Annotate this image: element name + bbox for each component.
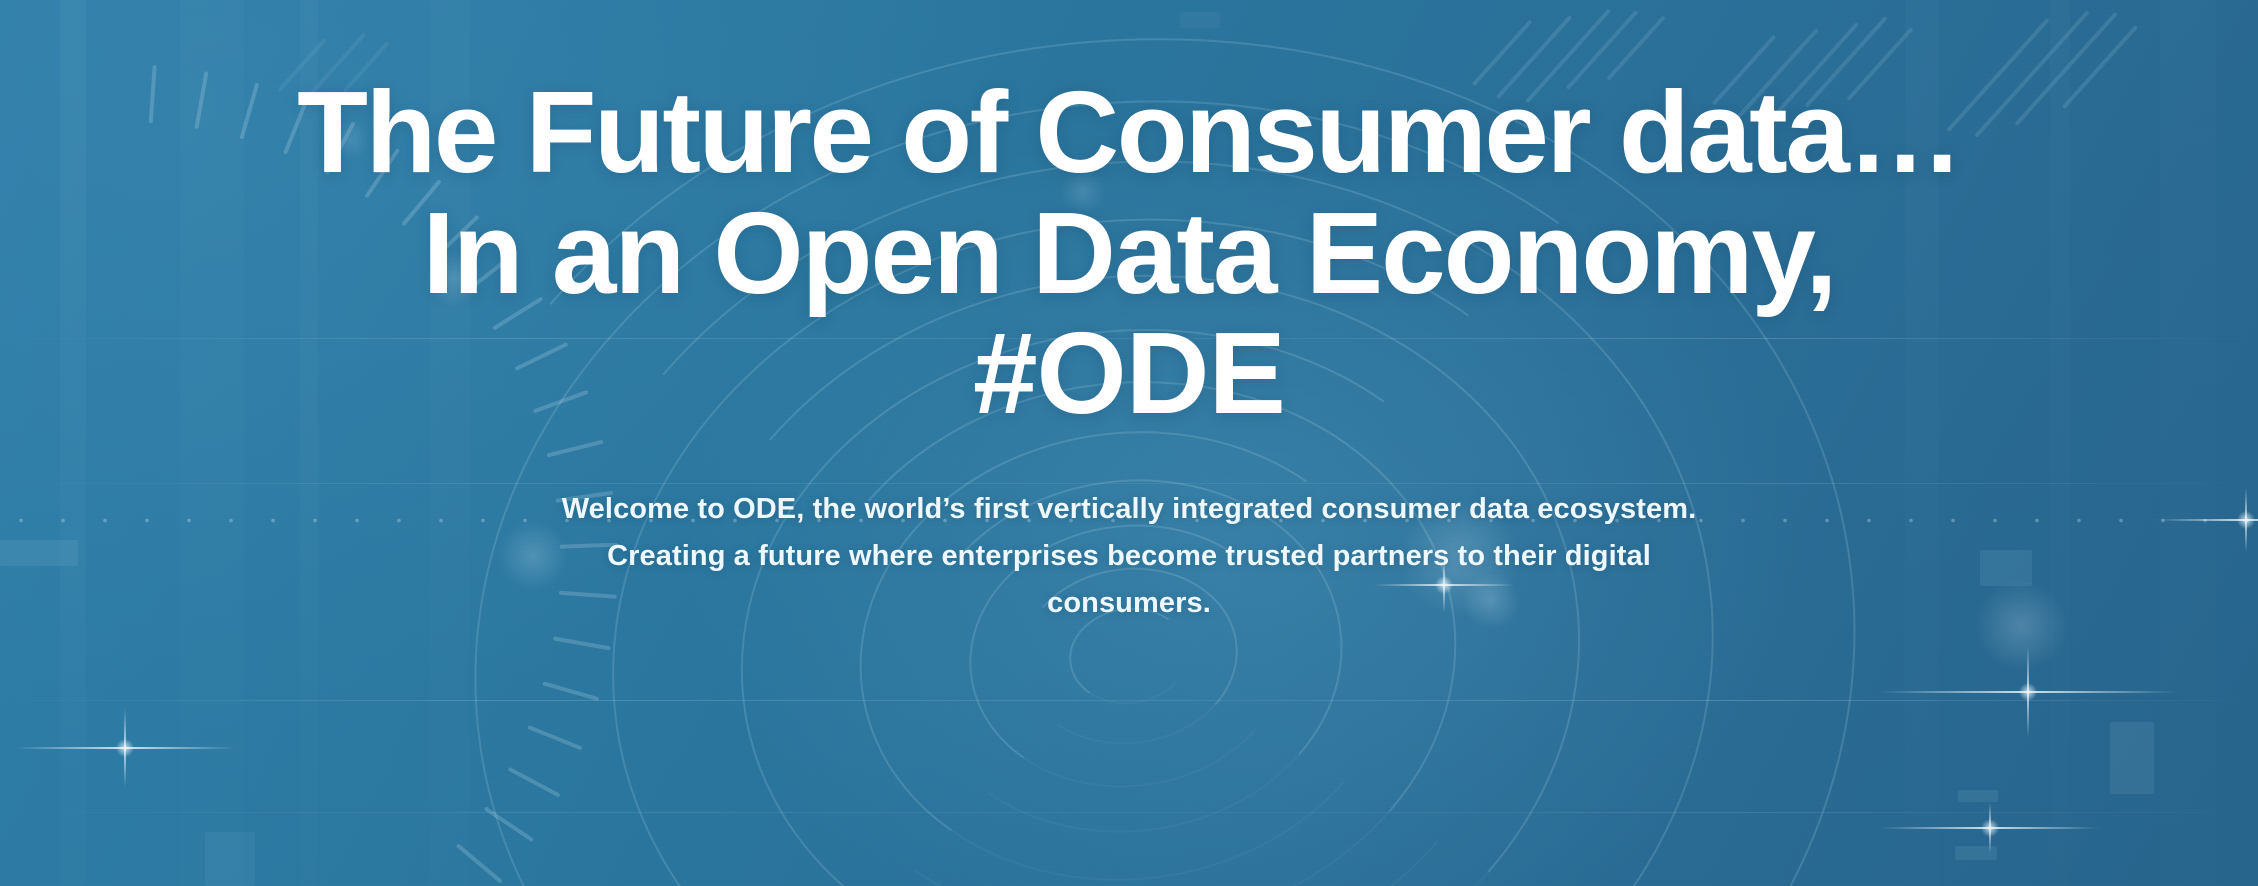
hero-subcopy: Welcome to ODE, the world’s first vertic… [539, 486, 1719, 627]
page-title: The Future of Consumer data… In an Open … [29, 72, 2229, 434]
headline-line-1: The Future of Consumer data… [29, 72, 2229, 193]
hero-content: The Future of Consumer data… In an Open … [0, 0, 2258, 886]
hero-banner: The Future of Consumer data… In an Open … [0, 0, 2258, 886]
headline-line-2: In an Open Data Economy, [29, 193, 2229, 314]
headline-line-3: #ODE [29, 313, 2229, 434]
